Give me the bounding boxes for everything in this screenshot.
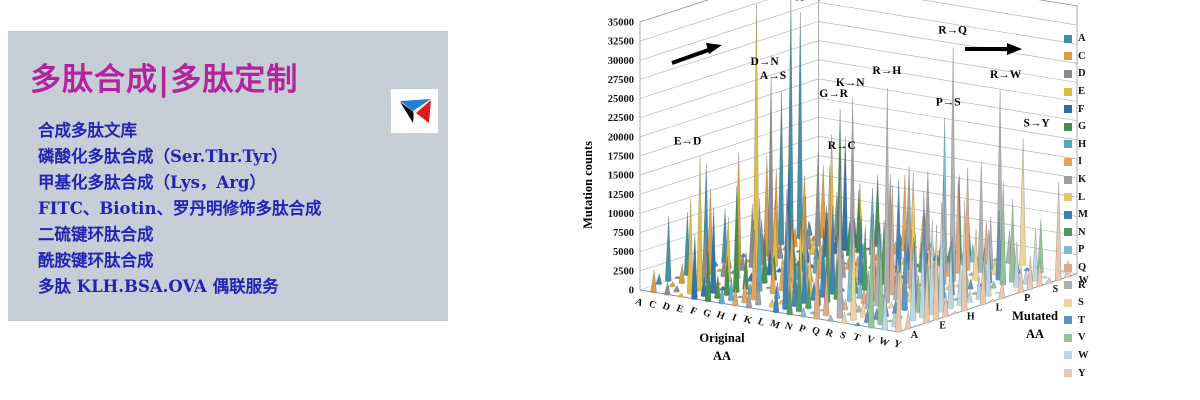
y-tick-label: 5000 (613, 247, 634, 258)
legend-item-K[interactable]: K (1064, 171, 1124, 189)
legend-item-I[interactable]: I (1064, 153, 1124, 171)
promo-service-list: 合成多肽文库 磷酸化多肽合成（Ser.Thr.Tyr） 甲基化多肽合成（Lys，… (38, 118, 438, 300)
legend-item-label: K (1078, 174, 1086, 185)
annotation-R-to-Q: R→Q (938, 25, 967, 37)
list-item: 甲基化多肽合成（Lys，Arg） (38, 170, 438, 196)
legend-swatch-icon (1064, 35, 1072, 43)
z-category-L: L (996, 302, 1003, 313)
legend-swatch-icon (1064, 264, 1072, 272)
y-tick-label: 30000 (608, 56, 634, 67)
y-tick-label: 17500 (608, 152, 634, 163)
legend-item-W[interactable]: W (1064, 347, 1124, 365)
legend-item-R[interactable]: R (1064, 276, 1124, 294)
legend-item-H[interactable]: H (1064, 136, 1124, 154)
z-category-H: H (967, 312, 975, 323)
legend-item-label: V (1078, 332, 1086, 343)
legend-item-M[interactable]: M (1064, 206, 1124, 224)
legend-item-label: G (1078, 121, 1086, 132)
z-category-S: S (1053, 284, 1059, 295)
y-tick-label: 2500 (613, 266, 634, 277)
y-tick-label: 35000 (608, 18, 634, 29)
y-tick-label: 32500 (608, 37, 634, 48)
legend-swatch-icon (1064, 70, 1072, 78)
legend-swatch-icon (1064, 52, 1072, 60)
annotation-G-to-R: G→R (819, 88, 848, 100)
legend-item-C[interactable]: C (1064, 48, 1124, 66)
x-category-S: S (838, 330, 848, 342)
legend-swatch-icon (1064, 299, 1072, 307)
legend-item-label: D (1078, 68, 1086, 79)
list-item: 磷酸化多肽合成（Ser.Thr.Tyr） (38, 144, 438, 170)
annotation-P-to-S: P→S (936, 97, 961, 109)
x-category-G: G (701, 307, 713, 320)
legend-item-label: T (1078, 315, 1085, 326)
spike-marker (914, 325, 920, 327)
list-item: 二硫键环肽合成 (38, 222, 438, 248)
legend-item-label: E (1078, 86, 1085, 97)
legend-item-V[interactable]: V (1064, 329, 1124, 347)
y-tick-label: 22500 (608, 113, 634, 124)
annotation-S-to-Y: S→Y (1023, 118, 1050, 130)
annotation-R-to-H: R→H (872, 65, 901, 77)
legend-item-label: A (1078, 33, 1086, 44)
x-category-E: E (675, 303, 686, 316)
z-axis-label-line1: Mutated (1012, 309, 1058, 323)
legend-swatch-icon (1064, 176, 1072, 184)
x-category-Y: Y (892, 338, 904, 351)
legend-item-D[interactable]: D (1064, 65, 1124, 83)
z-category-P: P (1024, 293, 1030, 304)
legend-swatch-icon (1064, 351, 1072, 359)
legend-item-label: M (1078, 209, 1088, 220)
legend-item-S[interactable]: S (1064, 294, 1124, 312)
x-category-H: H (715, 309, 727, 322)
x-category-Q: Q (810, 325, 822, 338)
annotation-E-to-D: E→D (674, 136, 701, 148)
y-tick-label: 0 (629, 286, 634, 297)
legend-item-Q[interactable]: Q (1064, 259, 1124, 277)
legend-swatch-icon (1064, 246, 1072, 254)
y-axis-label: Mutation counts (581, 141, 595, 229)
legend-item-label: N (1078, 227, 1086, 238)
x-category-P: P (797, 323, 807, 335)
legend-item-label: I (1078, 156, 1082, 167)
series-legend: ACDEFGHIKLMNPQRSTVWY (1064, 30, 1124, 382)
y-tick-label: 27500 (608, 75, 634, 86)
annotation-R-to-W: R→W (990, 69, 1022, 81)
annotation-D-to-N: D→N (751, 56, 780, 68)
legend-item-label: F (1078, 104, 1084, 115)
x-category-M: M (768, 318, 781, 332)
legend-item-F[interactable]: F (1064, 100, 1124, 118)
x-category-D: D (661, 301, 672, 314)
legend-item-label: Y (1078, 368, 1086, 379)
legend-swatch-icon (1064, 228, 1072, 236)
legend-item-label: S (1078, 297, 1084, 308)
promo-panel: 多肽合成|多肽定制 合成多肽文库 磷酸化多肽合成（Ser.Thr.Tyr） 甲基… (8, 31, 448, 321)
x-category-A: A (634, 296, 646, 309)
y-tick-label: 12500 (608, 190, 634, 201)
x-axis-label-line1: Original (699, 331, 745, 345)
x-category-W: W (877, 335, 890, 349)
legend-item-label: H (1078, 139, 1086, 150)
legend-swatch-icon (1064, 88, 1072, 96)
x-category-K: K (742, 314, 754, 327)
x-category-N: N (783, 320, 795, 333)
legend-swatch-icon (1064, 140, 1072, 148)
list-item: FITC、Biotin、罗丹明修饰多肽合成 (38, 196, 438, 222)
x-category-F: F (688, 305, 698, 317)
list-item: 合成多肽文库 (38, 118, 438, 144)
legend-swatch-icon (1064, 211, 1072, 219)
legend-swatch-icon (1064, 123, 1072, 131)
y-tick-label: 7500 (613, 228, 634, 239)
y-axis-ticks: 0250050007500100001250015000175002000022… (608, 18, 634, 297)
legend-item-E[interactable]: E (1064, 83, 1124, 101)
x-category-I: I (730, 312, 738, 324)
x-category-T: T (851, 332, 862, 345)
legend-item-G[interactable]: G (1064, 118, 1124, 136)
promo-title: 多肽合成|多肽定制 (30, 54, 298, 99)
list-item: 酰胺键环肽合成 (38, 248, 438, 274)
legend-item-label: P (1078, 244, 1084, 255)
legend-item-N[interactable]: N (1064, 224, 1124, 242)
annotation-A-to-S: A→S (760, 70, 786, 82)
z-category-E: E (939, 321, 946, 332)
x-category-V: V (865, 334, 877, 347)
legend-item-label: Q (1078, 262, 1086, 273)
z-category-A: A (911, 330, 919, 341)
legend-swatch-icon (1064, 105, 1072, 113)
legend-item-L[interactable]: L (1064, 188, 1124, 206)
y-tick-label: 25000 (608, 94, 634, 105)
x-category-R: R (824, 327, 836, 340)
legend-item-label: L (1078, 192, 1085, 203)
y-tick-label: 10000 (608, 209, 634, 220)
legend-item-T[interactable]: T (1064, 312, 1124, 330)
legend-swatch-icon (1064, 334, 1072, 342)
legend-item-label: W (1078, 350, 1089, 361)
x-category-L: L (756, 316, 767, 329)
y-tick-label: 15000 (608, 171, 634, 182)
legend-swatch-icon (1064, 316, 1072, 324)
legend-item-label: R (1078, 280, 1086, 291)
y-tick-label: 20000 (608, 132, 634, 143)
x-axis-label-line2: AA (713, 349, 731, 363)
z-axis-label-line2: AA (1026, 327, 1044, 341)
list-item: 多肽 KLH.BSA.OVA 偶联服务 (38, 274, 438, 300)
legend-swatch-icon (1064, 193, 1072, 201)
legend-swatch-icon (1064, 158, 1072, 166)
annotation-R-to-C: R→C (828, 140, 856, 152)
legend-swatch-icon (1064, 369, 1072, 377)
legend-item-Y[interactable]: Y (1064, 364, 1124, 382)
legend-swatch-icon (1064, 281, 1072, 289)
legend-item-P[interactable]: P (1064, 241, 1124, 259)
x-category-C: C (647, 298, 658, 311)
annotation-A-to-V: A→V (796, 0, 825, 3)
legend-item-A[interactable]: A (1064, 30, 1124, 48)
legend-item-label: C (1078, 51, 1086, 62)
